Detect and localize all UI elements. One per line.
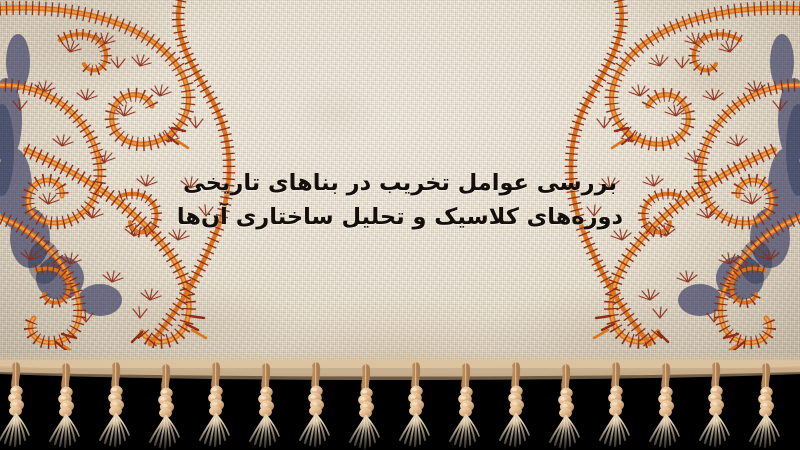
weave-texture-horizontal	[0, 0, 800, 376]
cloth-vignette	[0, 0, 800, 376]
weave-texture-diagonal-a	[0, 0, 800, 376]
cloth-aging-stains	[0, 0, 800, 376]
ornament-top-right	[550, 0, 800, 350]
cloth-hem	[0, 352, 800, 376]
slide-canvas: بررسی عوامل تخریب در بناهای تاریخی دوره‌…	[0, 0, 800, 450]
weave-texture-vertical	[0, 0, 800, 376]
weave-texture-diagonal-b	[0, 0, 800, 376]
paisley-embroidery-right-svg	[550, 0, 800, 350]
paisley-embroidery-left-svg	[0, 0, 250, 350]
linen-cloth	[0, 0, 800, 376]
ornament-top-left	[0, 0, 250, 350]
cloth-hem-fuzz	[0, 368, 800, 376]
